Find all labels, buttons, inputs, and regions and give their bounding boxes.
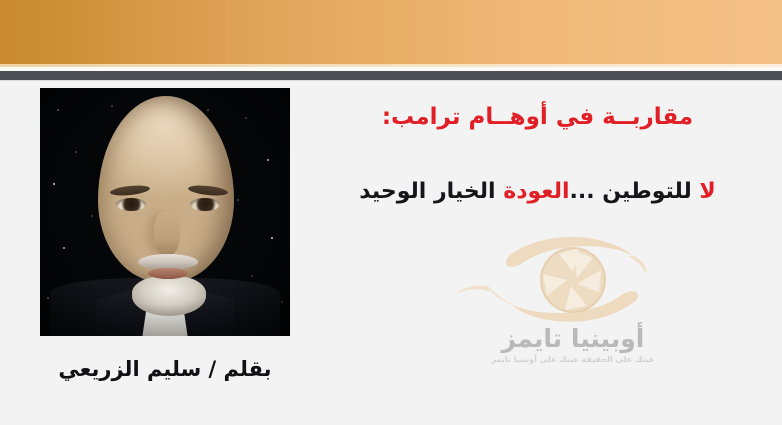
headline-line-2: لا للتوطين ...العودة الخيار الوحيد xyxy=(310,177,765,208)
banner-dark-rule xyxy=(0,71,782,80)
headline-part-3: العودة xyxy=(503,179,569,204)
site-watermark: أوبينيا تايمز عينك على الحقيقة عينك على … xyxy=(428,236,718,384)
eye-aperture-icon xyxy=(428,236,718,328)
headline-line-1: مقاربــة في أوهــام ترامب: xyxy=(310,101,765,133)
headline-part-4: الخيار الوحيد xyxy=(359,179,503,204)
article-header-card: أوبينيا تايمز عينك على الحقيقة عينك على … xyxy=(0,0,782,425)
headline-part-2: للتوطين ... xyxy=(570,179,700,204)
content-area: أوبينيا تايمز عينك على الحقيقة عينك على … xyxy=(0,81,782,425)
portrait-vignette xyxy=(40,88,290,336)
author-portrait-photo xyxy=(40,88,290,336)
headline-part-1: لا xyxy=(699,179,715,204)
headline-block: مقاربــة في أوهــام ترامب: لا للتوطين ..… xyxy=(310,101,765,208)
top-banner xyxy=(0,0,782,64)
watermark-tagline: عينك على الحقيقة عينك على أوبينيا تايمز xyxy=(428,355,718,364)
author-byline: بقلم / سليم الزريعي xyxy=(40,357,290,381)
watermark-site-name: أوبينيا تايمز xyxy=(428,324,718,353)
